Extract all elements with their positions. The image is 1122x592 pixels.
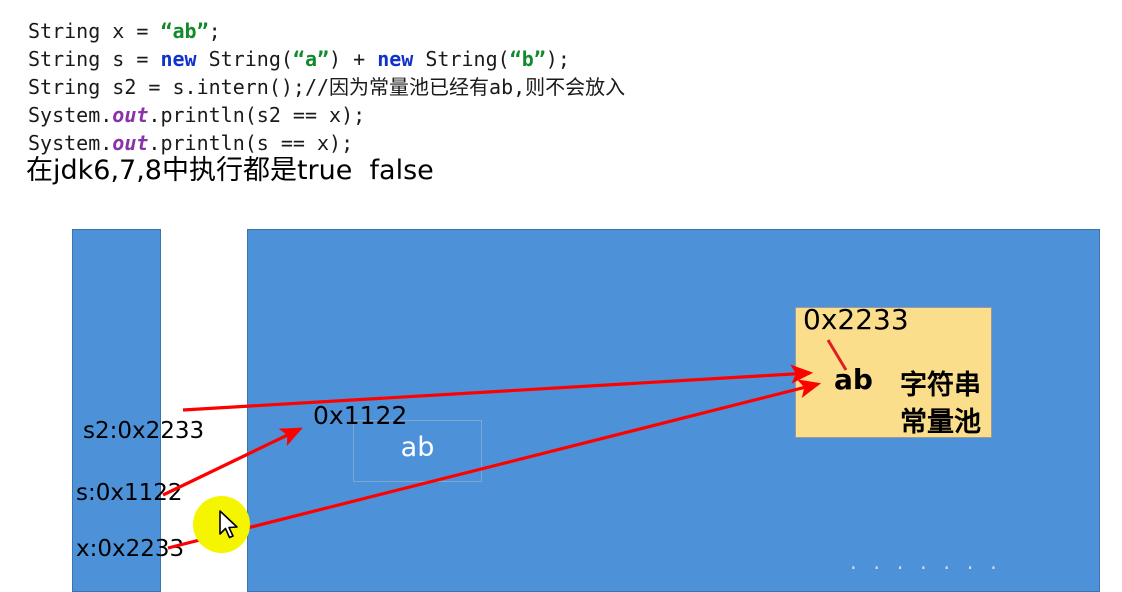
code-line-3: String s2 = s.intern();//因为常量池已经有ab,则不会放… (28, 76, 625, 98)
arrow-x-to-pool (168, 384, 818, 548)
screen-root: String x = “ab”; String s = new String(“… (0, 0, 1122, 592)
arrow-pointer-icon (219, 510, 241, 540)
code-line-1: String x = “ab”; (28, 20, 221, 42)
memory-diagram: ab 0x1122 0x2233 ab 字符串 常量池 s2:0x2233 s:… (0, 200, 1122, 592)
jdk-behavior-note: 在jdk6,7,8中执行都是true false (26, 156, 434, 186)
code-snippet: String x = “ab”; String s = new String(“… (0, 0, 1122, 200)
reference-arrows (0, 200, 1122, 592)
watermark: · · · · · · · (850, 556, 1110, 582)
code-line-5: System.out.println(s == x); (28, 132, 353, 154)
code-line-4: System.out.println(s2 == x); (28, 104, 365, 126)
code-line-2: String s = new String(“a”) + new String(… (28, 48, 570, 70)
arrow-s-to-heap (163, 429, 300, 495)
arrow-s2-to-pool (183, 373, 810, 410)
pool-value-tick (828, 340, 846, 370)
